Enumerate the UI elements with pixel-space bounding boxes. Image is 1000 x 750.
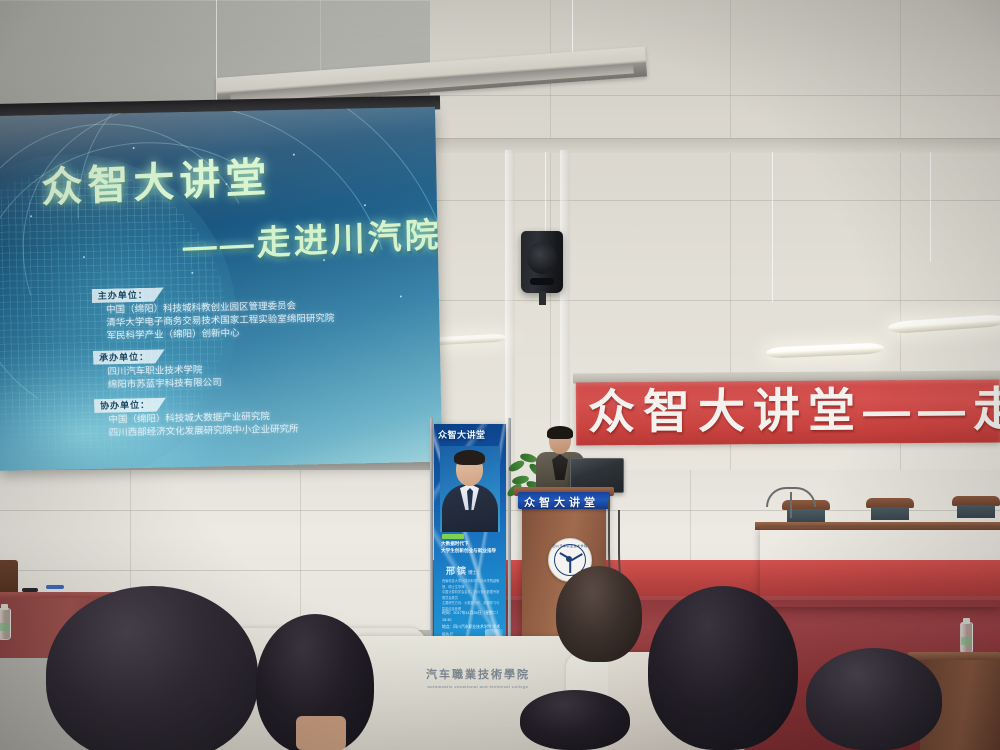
roll-up-banner-stand: 众智大讲堂 大数据时代下 大学生创新创业与就业指导 邢镔博士 西南科技大学计算机… — [428, 418, 514, 656]
water-bottle — [960, 622, 973, 654]
marker-pen — [22, 588, 38, 592]
poster-meta-line: 时间：2017年11月28日（星期二）15:30 — [442, 610, 502, 624]
poster-topic-line: 大学生创新创业与就业指导 — [441, 548, 503, 555]
emblem-text: 四川汽车职业技术学院 — [549, 544, 591, 548]
projection-screen: 众智大讲堂 ——走进川汽院 主办单位： 中国（绵阳）科技城科教创业园区管理委员会… — [0, 107, 442, 471]
light-hanger-wire — [930, 152, 931, 262]
stage-chair — [866, 498, 914, 522]
audience-head — [46, 586, 258, 750]
red-wall-banner: 众智大讲堂——走 — [576, 380, 1000, 446]
audience-head — [806, 648, 942, 750]
marker-pen — [46, 585, 64, 589]
podium-sign-text: 众智大讲堂 — [524, 494, 599, 509]
pa-speaker — [521, 231, 563, 293]
poster-bio-line: 西南科技大学计算机科学与技术学院副教授，硕士生导师 — [442, 579, 502, 590]
roll-up-poster: 众智大讲堂 大数据时代下 大学生创新创业与就业指导 邢镔博士 西南科技大学计算机… — [434, 424, 506, 640]
stage-desk — [760, 527, 1000, 607]
stage-chair — [952, 496, 1000, 520]
pillar-edge-right — [560, 150, 570, 470]
banner-text: 众智大讲堂——走 — [588, 383, 1000, 438]
podium-name-sign: 众智大讲堂 — [518, 492, 610, 509]
audience-head — [520, 690, 630, 750]
audience-head — [556, 566, 642, 662]
poster-speaker-bio: 西南科技大学计算机科学与技术学院副教授，硕士生导师 中国计算机学会会员，四川省大… — [442, 579, 502, 613]
lecture-hall-photograph: 众智大讲堂 ——走进川汽院 主办单位： 中国（绵阳）科技城科教创业园区管理委员会… — [0, 0, 1000, 750]
poster-bio-line: 中国计算机学会会员，四川省大数据专家委员会委员 — [442, 590, 502, 601]
speaker-bracket — [539, 291, 546, 305]
wall-cornice — [430, 138, 1000, 153]
light-hanger-wire — [772, 152, 773, 302]
microphone-stand — [790, 492, 792, 518]
poster-speaker-photo — [440, 446, 500, 532]
poster-accent-bar — [442, 534, 464, 539]
poster-header: 众智大讲堂 — [438, 428, 486, 441]
poster-topic: 大数据时代下 大学生创新创业与就业指导 — [441, 541, 503, 555]
audience-neck — [296, 716, 346, 750]
poster-speaker-name: 邢镔博士 — [446, 564, 477, 577]
water-bottle — [0, 608, 11, 640]
poster-topic-line: 大数据时代下 — [441, 541, 503, 548]
audience-head — [648, 586, 798, 750]
